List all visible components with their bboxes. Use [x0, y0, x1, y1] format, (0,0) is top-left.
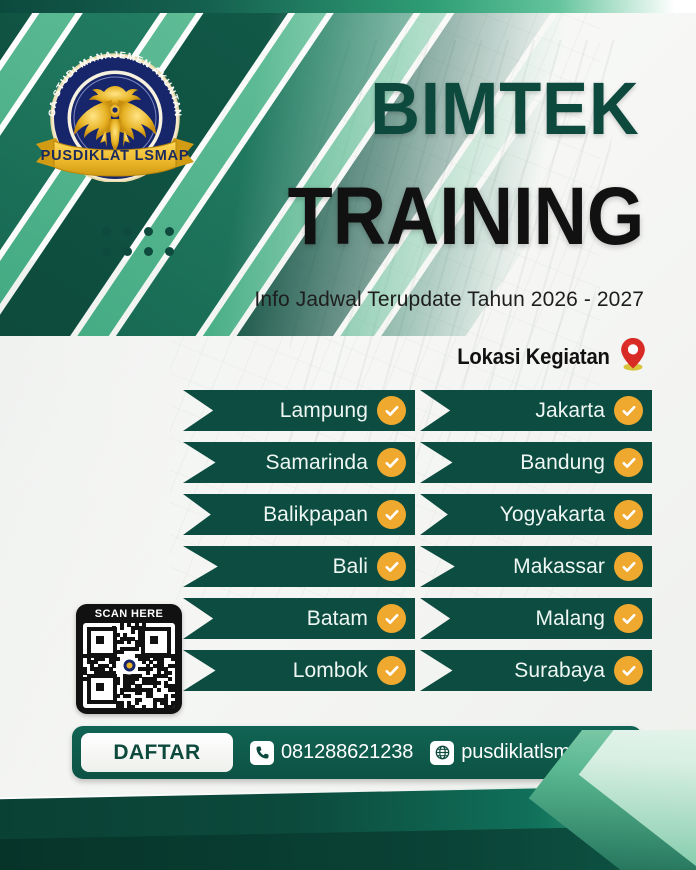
qr-code-block[interactable]: SCAN HERE — [76, 604, 182, 714]
location-badge[interactable]: Lampung — [183, 390, 415, 431]
location-badge[interactable]: Bandung — [420, 442, 652, 483]
location-badge[interactable]: Surabaya — [420, 650, 652, 691]
logo-svg: LEMBAGA STUDI MANAJEMEN AKUNTANSI DAN PE… — [22, 32, 208, 182]
location-badge[interactable]: Bali — [183, 546, 415, 587]
organization-logo: LEMBAGA STUDI MANAJEMEN AKUNTANSI DAN PE… — [22, 32, 208, 182]
poster-root: LEMBAGA STUDI MANAJEMEN AKUNTANSI DAN PE… — [0, 0, 696, 870]
location-name: Bandung — [520, 451, 605, 475]
location-name: Samarinda — [266, 451, 368, 475]
location-name: Surabaya — [514, 659, 605, 683]
check-icon — [614, 604, 643, 633]
location-badge[interactable]: Samarinda — [183, 442, 415, 483]
location-name: Makassar — [513, 555, 605, 579]
qr-caption: SCAN HERE — [76, 604, 182, 623]
location-name: Balikpapan — [263, 503, 368, 527]
check-icon — [614, 656, 643, 685]
top-edge-bar — [0, 0, 696, 13]
qr-code-image — [83, 623, 175, 708]
location-name: Lombok — [293, 659, 368, 683]
location-badge[interactable]: Batam — [183, 598, 415, 639]
location-name: Lampung — [280, 399, 368, 423]
location-badge[interactable]: Balikpapan — [183, 494, 415, 535]
qr-finder-bl — [87, 674, 117, 704]
page-title-secondary: TRAINING — [287, 178, 644, 255]
section-label: Lokasi Kegiatan — [458, 344, 610, 370]
location-name: Yogyakarta — [500, 503, 605, 527]
check-icon — [614, 396, 643, 425]
page-title-primary: BIMTEK — [371, 74, 640, 144]
check-icon — [377, 448, 406, 477]
check-icon — [377, 552, 406, 581]
location-column-left: LampungSamarindaBalikpapanBaliBatamLombo… — [183, 390, 415, 702]
location-name: Jakarta — [535, 399, 605, 423]
qr-finder-tl — [87, 627, 117, 657]
location-badge[interactable]: Malang — [420, 598, 652, 639]
check-icon — [614, 552, 643, 581]
location-name: Bali — [333, 555, 368, 579]
location-pin-icon — [620, 337, 646, 376]
check-icon — [377, 604, 406, 633]
check-icon — [614, 448, 643, 477]
section-header-location: Lokasi Kegiatan — [444, 337, 646, 376]
check-icon — [377, 500, 406, 529]
location-badge[interactable]: Lombok — [183, 650, 415, 691]
bottom-band — [0, 730, 696, 870]
location-name: Malang — [536, 607, 605, 631]
location-badge[interactable]: Yogyakarta — [420, 494, 652, 535]
logo-ribbon-text: PUSDIKLAT LSMAP — [41, 148, 190, 164]
qr-finder-tr — [141, 627, 171, 657]
page-subtitle: Info Jadwal Terupdate Tahun 2026 - 2027 — [254, 288, 644, 312]
location-badge[interactable]: Jakarta — [420, 390, 652, 431]
location-badge[interactable]: Makassar — [420, 546, 652, 587]
decorative-dot-grid — [96, 221, 180, 261]
check-icon — [377, 656, 406, 685]
location-name: Batam — [307, 607, 368, 631]
check-icon — [614, 500, 643, 529]
location-column-right: JakartaBandungYogyakartaMakassarMalangSu… — [420, 390, 652, 702]
qr-center-logo — [121, 657, 138, 674]
check-icon — [377, 396, 406, 425]
